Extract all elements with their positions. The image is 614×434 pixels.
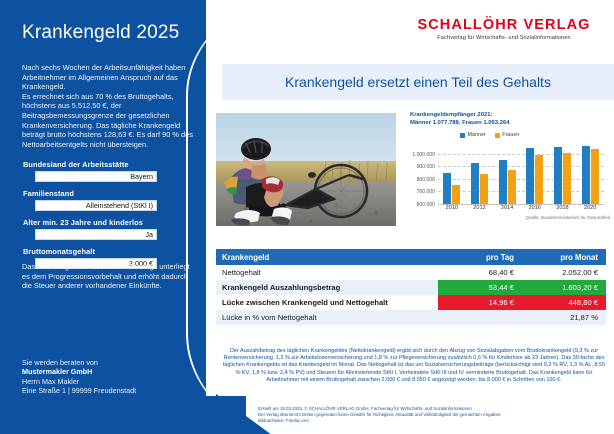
- intro-paragraph-2: Es errechnet sich aus 70 % des Bruttogeh…: [22, 92, 200, 150]
- form-row-familienstand: Familienstand Alleinstehend (StKl I): [22, 189, 198, 211]
- header-per-month: pro Monat: [522, 249, 606, 265]
- table-row: Lücke in % vom Nettogehalt 21,87 %: [216, 310, 606, 325]
- chart-x-tick-label: 2018: [551, 205, 573, 211]
- headline-text: Krankengeld ersetzt einen Teil des Gehal…: [222, 74, 614, 90]
- chart-bar-männer-2018: [554, 147, 562, 204]
- header-label: Krankengeld: [216, 249, 438, 265]
- chart-bar-group: [551, 147, 573, 204]
- row-month-luecke-prozent: 21,87 %: [522, 310, 606, 325]
- chart-y-tick-label: 600.000: [417, 202, 435, 208]
- select-familienstand[interactable]: Alleinstehend (StKl I): [35, 200, 157, 211]
- legend-item-maenner: Männer: [460, 132, 486, 138]
- credits-block: Erstellt am 18.03.2025, © SCHALLÖHR VERL…: [258, 406, 610, 424]
- explanation-text: Der Auszahlbetrag des täglichen Krankeng…: [222, 348, 606, 384]
- chart-plot-area: 600.000700.000800.000900.0001.000.000: [438, 141, 604, 205]
- chart-title: Krankengeldempfänger 2021: Männer 1.077.…: [410, 112, 610, 127]
- injured-cyclist-photo: [216, 113, 396, 226]
- label-bundesland: Bundesland der Arbeitsstätte: [23, 160, 198, 169]
- table-row: Lücke zwischen Krankengeld und Nettogeha…: [216, 295, 606, 310]
- chart-title-line1: Krankengeldempfänger 2021:: [410, 112, 610, 120]
- chart-bar-männer-2016: [526, 148, 534, 204]
- value-alter: Ja: [145, 230, 153, 239]
- logo-name: SCHALLÖHR VERLAG: [404, 18, 604, 33]
- label-alter: Alter min. 23 Jahre und kinderlos: [23, 218, 198, 227]
- value-bundesland: Bayern: [130, 172, 153, 181]
- credits-line-3: Bildnachweis: Fotolia.com: [258, 418, 610, 424]
- row-label-luecke-prozent: Lücke in % vom Nettogehalt: [216, 310, 438, 325]
- chart-y-tick-label: 800.000: [417, 177, 435, 183]
- sidebar-intro: Nach sechs Wochen der Arbeitsunfähigkeit…: [22, 63, 200, 149]
- headline-band: Krankengeld ersetzt einen Teil des Gehal…: [222, 64, 614, 100]
- row-day-luecke: 14,96 €: [438, 295, 522, 310]
- contact-person: Herrn Max Makler: [22, 377, 212, 386]
- chart-bar-group: [579, 146, 601, 204]
- publisher-logo: SCHALLÖHR VERLAG Fachverlag für Wirtscha…: [404, 18, 604, 41]
- chart-y-tick-label: 1.000.000: [412, 152, 435, 158]
- intro-paragraph-1: Nach sechs Wochen der Arbeitsunfähigkeit…: [22, 63, 200, 92]
- logo-tagline: Fachverlag für Wirtschafts- und Sozialin…: [404, 35, 604, 41]
- chart-bar-männer-2010: [443, 173, 451, 204]
- sidebar-tax-note: Das Krankengeld ist steuerfrei. Allerdin…: [22, 262, 198, 291]
- table-row: Krankengeld Auszahlungsbetrag 53,44 € 1.…: [216, 280, 606, 295]
- value-familienstand: Alleinstehend (StKl I): [86, 201, 153, 210]
- header-per-day: pro Tag: [438, 249, 522, 265]
- row-label-luecke: Lücke zwischen Krankengeld und Nettogeha…: [216, 295, 438, 310]
- chart-source: Quelle: Bundesministerium für Gesundheit: [438, 215, 610, 220]
- select-bundesland[interactable]: Bayern: [35, 171, 157, 182]
- form-row-alter: Alter min. 23 Jahre und kinderlos Ja: [22, 218, 198, 240]
- chart-y-tick-label: 700.000: [417, 189, 435, 195]
- chart-bars: [438, 141, 604, 204]
- legend-label-frauen: Frauen: [502, 132, 519, 138]
- select-alter[interactable]: Ja: [35, 229, 157, 240]
- chart-x-tick-label: 2014: [496, 205, 518, 211]
- sidebar: Krankengeld 2025 Nach sechs Wochen der A…: [0, 0, 210, 434]
- row-month-auszahlungsbetrag: 1.603,20 €: [522, 280, 606, 295]
- row-day-nettogehalt: 68,40 €: [438, 265, 522, 280]
- chart-bar-group: [468, 163, 490, 204]
- chart-bar-frauen-2012: [480, 174, 488, 204]
- chart-x-tick-label: 2020: [579, 205, 601, 211]
- results-table: Krankengeld pro Tag pro Monat Nettogehal…: [216, 249, 606, 325]
- legend-item-frauen: Frauen: [495, 132, 520, 138]
- chart-bar-frauen-2010: [452, 185, 460, 204]
- chart-x-tick-label: 2012: [468, 205, 490, 211]
- chart-bar-frauen-2018: [563, 153, 571, 204]
- row-label-auszahlungsbetrag: Krankengeld Auszahlungsbetrag: [216, 280, 438, 295]
- chart-bar-group: [496, 160, 518, 204]
- contact-company: Mustermakler GmbH: [22, 367, 212, 376]
- row-day-auszahlungsbetrag: 53,44 €: [438, 280, 522, 295]
- chart-legend: Männer Frauen: [460, 132, 519, 138]
- chart-bar-frauen-2020: [591, 149, 599, 204]
- chart-x-tick-label: 2016: [524, 205, 546, 211]
- calculator-form: Bundesland der Arbeitsstätte Bayern Fami…: [22, 160, 198, 276]
- contact-lead: Sie werden beraten von: [22, 358, 212, 367]
- chart-bar-männer-2014: [499, 160, 507, 204]
- legend-label-maenner: Männer: [468, 132, 486, 138]
- chart-x-axis: 201020122014201620182020: [438, 205, 604, 211]
- chart-bar-group: [524, 148, 546, 204]
- table-row: Nettogehalt 68,40 € 2.052,00 €: [216, 265, 606, 280]
- label-bruttogehalt: Bruttomonatsgehalt: [23, 247, 198, 256]
- legend-swatch-maenner: [460, 133, 465, 138]
- form-row-bundesland: Bundesland der Arbeitsstätte Bayern: [22, 160, 198, 182]
- table-header-row: Krankengeld pro Tag pro Monat: [216, 249, 606, 265]
- chart-bar-männer-2012: [471, 163, 479, 204]
- legend-swatch-frauen: [495, 133, 500, 138]
- row-month-nettogehalt: 2.052,00 €: [522, 265, 606, 280]
- label-familienstand: Familienstand: [23, 189, 198, 198]
- page-root: Krankengeld 2025 Nach sechs Wochen der A…: [0, 0, 614, 434]
- chart-x-tick-label: 2010: [441, 205, 463, 211]
- chart-bar-frauen-2014: [508, 170, 516, 204]
- row-label-nettogehalt: Nettogehalt: [216, 265, 438, 280]
- contact-address: Eine Straße 1 | 99999 Freudenstadt: [22, 386, 212, 395]
- chart-y-tick-label: 900.000: [417, 164, 435, 170]
- row-day-luecke-prozent: [438, 310, 522, 325]
- recipients-bar-chart: Krankengeldempfänger 2021: Männer 1.077.…: [404, 112, 610, 230]
- chart-bar-group: [441, 173, 463, 204]
- page-title: Krankengeld 2025: [22, 22, 179, 44]
- row-month-luecke: 448,80 €: [522, 295, 606, 310]
- chart-subtitle: Männer 1.077.788, Frauen 1.053.264: [410, 120, 610, 128]
- chart-bar-männer-2020: [582, 146, 590, 204]
- chart-bar-frauen-2016: [535, 155, 543, 204]
